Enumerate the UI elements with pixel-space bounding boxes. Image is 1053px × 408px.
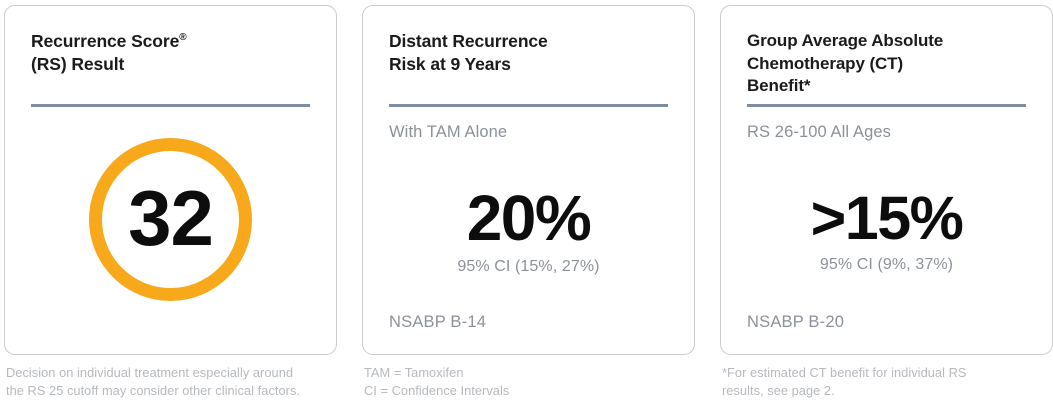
page-title-chemotherapy-benefit: Group Average Absolute Chemotherapy (CT)… xyxy=(747,30,1026,98)
card-title-line-1: Distant Recurrence xyxy=(389,31,548,51)
card-divider xyxy=(747,104,1026,107)
result-card-column-chemotherapy-benefit: Group Average Absolute Chemotherapy (CT)… xyxy=(720,5,1053,408)
card-subtitle-rs-range: RS 26-100 All Ages xyxy=(747,123,1026,142)
study-source-label: NSABP B-20 xyxy=(747,313,1026,354)
score-ring-icon: 32 xyxy=(89,138,252,301)
recurrence-score-value: 32 xyxy=(128,179,213,257)
page-title-distant-recurrence: Distant Recurrence Risk at 9 Years xyxy=(389,30,668,77)
card-footnote-abbreviations: TAM = Tamoxifen CI = Confidence Interval… xyxy=(362,364,695,399)
value-container: 20% 95% CI (15%, 27%) xyxy=(389,148,668,314)
card-footnote-ct-benefit: *For estimated CT benefit for individual… xyxy=(720,364,1053,399)
distant-recurrence-risk-value: 20% xyxy=(467,185,591,252)
card-title-line-2: (RS) Result xyxy=(31,54,124,74)
card-title-block: Recurrence Score® (RS) Result xyxy=(31,30,310,104)
card-title-block: Distant Recurrence Risk at 9 Years xyxy=(389,30,668,104)
recurrence-score-card: Recurrence Score® (RS) Result 32 xyxy=(4,5,337,355)
card-title-line-2: Chemotherapy (CT) xyxy=(747,54,903,73)
card-title-line-3: Benefit* xyxy=(747,76,810,95)
footnote-line-2: the RS 25 cutoff may consider other clin… xyxy=(6,382,337,400)
confidence-interval-text: 95% CI (15%, 27%) xyxy=(457,258,599,276)
card-title-line-2: Risk at 9 Years xyxy=(389,54,511,74)
page-title-recurrence-score: Recurrence Score® (RS) Result xyxy=(31,30,310,77)
value-container: >15% 95% CI (9%, 37%) xyxy=(747,148,1026,314)
score-ring-container: 32 xyxy=(31,107,310,355)
card-subtitle-treatment: With TAM Alone xyxy=(389,123,668,142)
result-card-column-recurrence-score: Recurrence Score® (RS) Result 32 Decisio… xyxy=(4,5,337,408)
footnote-line-1: Decision on individual treatment especia… xyxy=(6,364,337,382)
confidence-interval-text: 95% CI (9%, 37%) xyxy=(820,256,953,274)
card-divider xyxy=(389,104,668,107)
oncotype-results-panel: Recurrence Score® (RS) Result 32 Decisio… xyxy=(0,0,1053,408)
card-footnote-recurrence-score: Decision on individual treatment especia… xyxy=(4,364,337,399)
chemotherapy-benefit-card: Group Average Absolute Chemotherapy (CT)… xyxy=(720,5,1053,355)
registered-trademark-icon: ® xyxy=(179,32,186,43)
footnote-line-1: TAM = Tamoxifen xyxy=(364,364,695,382)
chemotherapy-benefit-value: >15% xyxy=(811,186,963,250)
result-card-column-distant-recurrence: Distant Recurrence Risk at 9 Years With … xyxy=(362,5,695,408)
distant-recurrence-risk-card: Distant Recurrence Risk at 9 Years With … xyxy=(362,5,695,355)
card-title-block: Group Average Absolute Chemotherapy (CT)… xyxy=(747,30,1026,104)
study-source-label: NSABP B-14 xyxy=(389,313,668,354)
footnote-line-2: CI = Confidence Intervals xyxy=(364,382,695,400)
footnote-line-2: results, see page 2. xyxy=(722,382,1053,400)
card-title-line-1: Recurrence Score xyxy=(31,31,179,51)
card-title-line-1: Group Average Absolute xyxy=(747,31,943,50)
footnote-line-1: *For estimated CT benefit for individual… xyxy=(722,364,1053,382)
